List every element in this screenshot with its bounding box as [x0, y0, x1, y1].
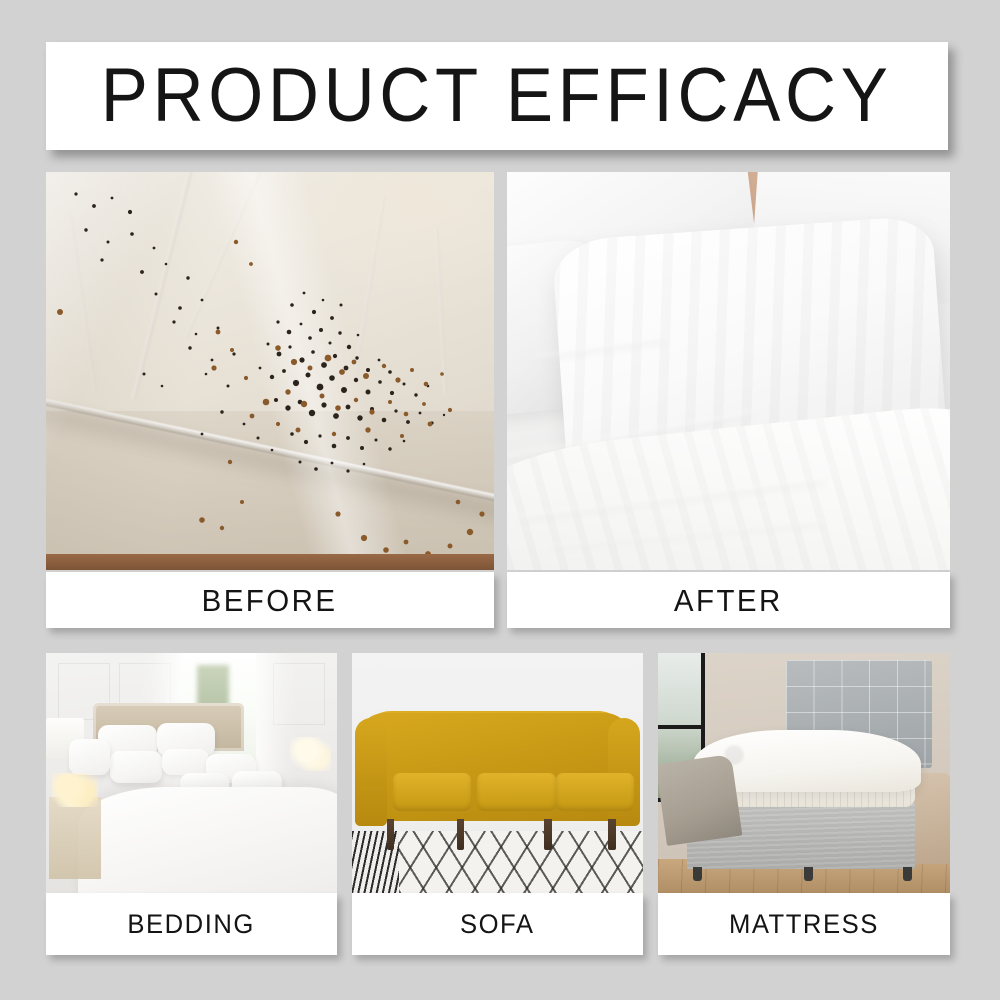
divan-foot — [903, 867, 912, 881]
divan-foot — [693, 867, 702, 881]
sofa-seat-cushion — [556, 773, 635, 811]
label-bar-before: BEFORE — [46, 572, 494, 628]
berber-rug — [399, 831, 643, 893]
label-bar-after: AFTER — [507, 572, 950, 628]
sofa-seat-cushion — [477, 773, 556, 811]
label-bar-mattress: MATTRESS — [658, 893, 950, 955]
label-sofa: SOFA — [460, 911, 535, 938]
label-bar-bedding: BEDDING — [46, 893, 337, 955]
photo-before-soiled-pillow — [46, 172, 494, 570]
throw-blanket — [658, 754, 742, 845]
image-panel-sofa[interactable] — [352, 653, 643, 893]
label-before: BEFORE — [202, 585, 338, 616]
sofa-leg — [608, 819, 616, 850]
label-after: AFTER — [674, 585, 783, 616]
bed-duvet — [78, 787, 337, 893]
image-panel-mattress[interactable] — [658, 653, 950, 893]
bed-pillow — [69, 739, 110, 775]
bed-pillow — [162, 749, 209, 775]
page-title: PRODUCT EFFICACY — [101, 58, 893, 134]
nightstand — [49, 797, 101, 879]
stain-speckles — [46, 172, 494, 570]
bed-pillow — [110, 751, 162, 782]
sofa-leg — [457, 819, 465, 850]
image-panel-bedding[interactable] — [46, 653, 337, 893]
photo-mattress-bedroom — [658, 653, 950, 893]
photo-sofa-livingroom — [352, 653, 643, 893]
wood-floor-edge — [46, 554, 494, 570]
collage-canvas: PRODUCT EFFICACY — [0, 0, 1000, 1000]
yellow-roses-bouquet — [52, 773, 99, 807]
sofa-seat-cushion — [393, 773, 472, 811]
window-mullion — [658, 725, 705, 729]
sofa-leg — [387, 819, 395, 850]
sofa-arm-left — [355, 718, 387, 826]
photo-bedding-bedroom — [46, 653, 337, 893]
white-roses-bouquet — [290, 737, 331, 771]
image-panel-after[interactable] — [507, 172, 950, 570]
label-bar-sofa: SOFA — [352, 893, 643, 955]
label-mattress: MATTRESS — [729, 911, 879, 938]
sofa-leg — [544, 819, 552, 850]
title-bar: PRODUCT EFFICACY — [46, 42, 948, 150]
divan-foot — [804, 867, 813, 881]
wall-moulding — [273, 663, 325, 725]
image-panel-before[interactable] — [46, 172, 494, 570]
photo-after-clean-pillows — [507, 172, 950, 570]
label-bedding: BEDDING — [128, 911, 256, 938]
